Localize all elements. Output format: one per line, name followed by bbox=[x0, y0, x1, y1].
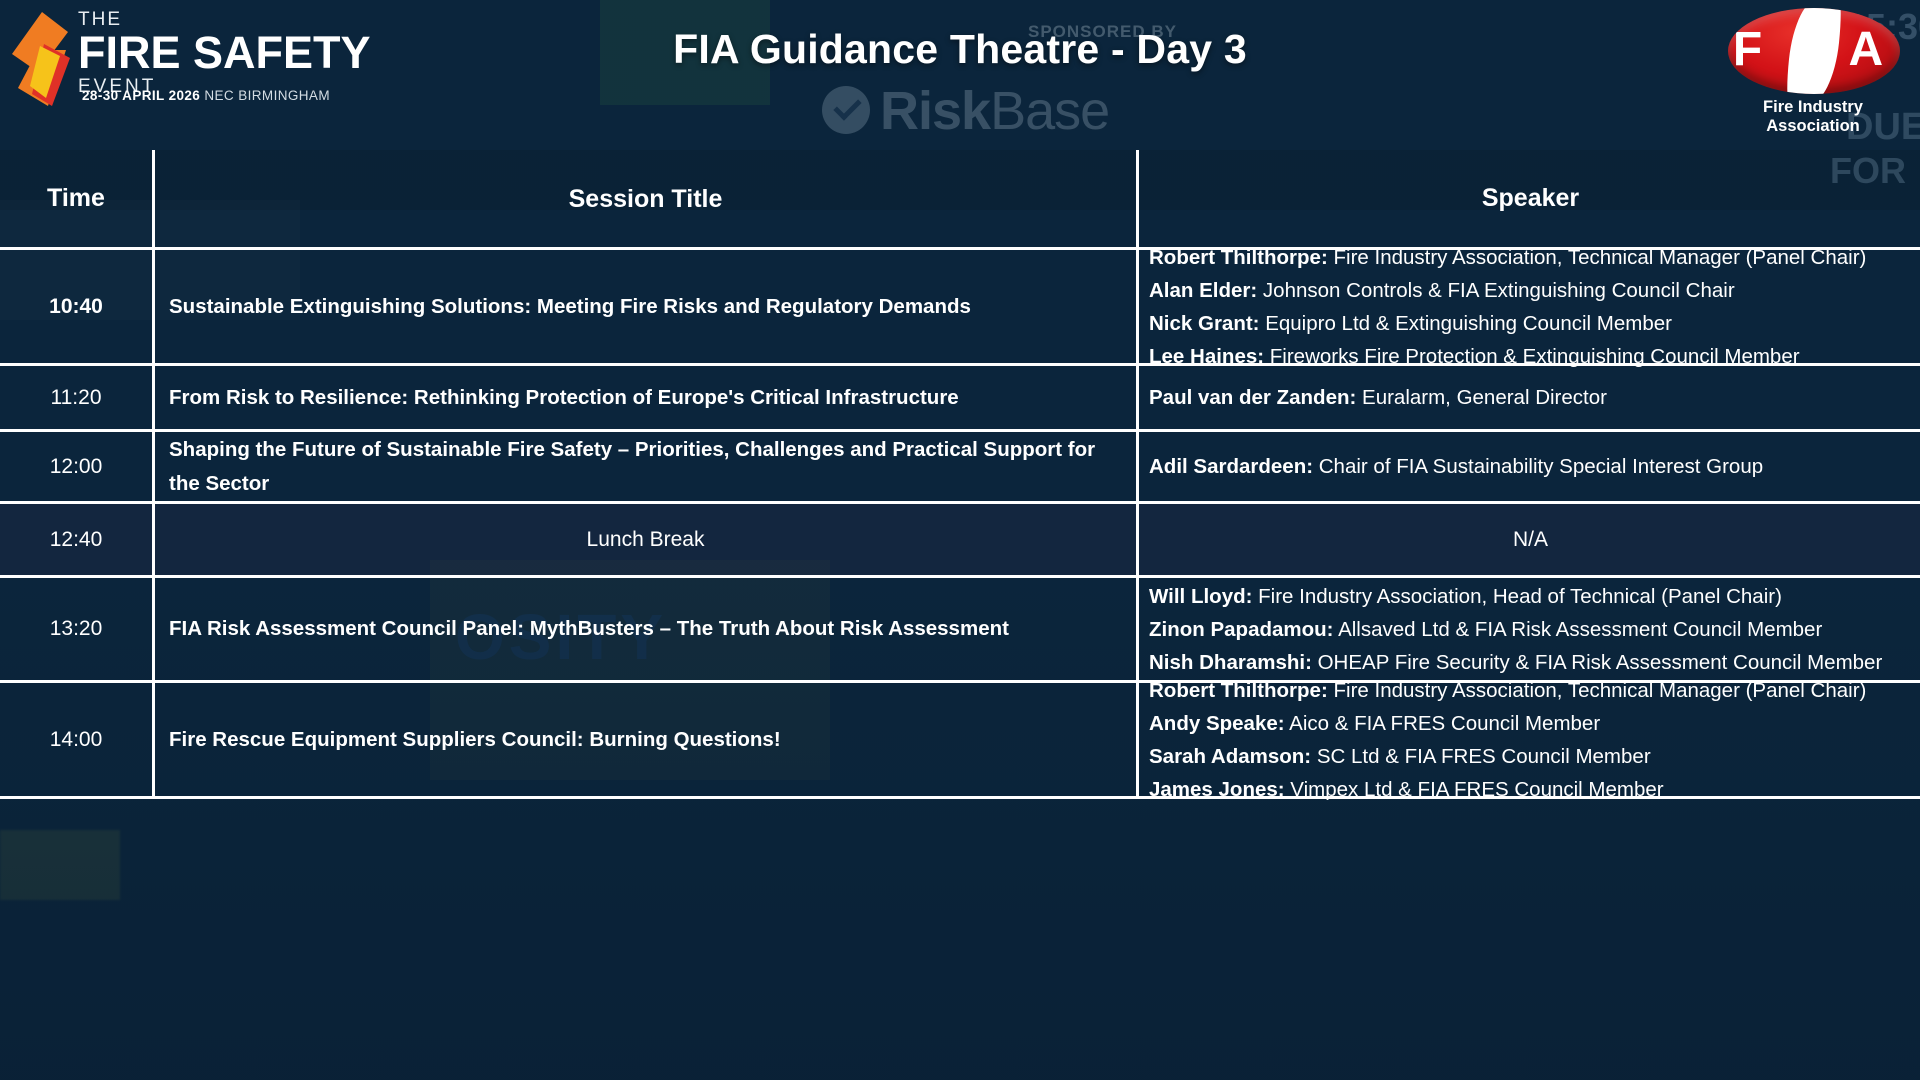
fia-logo: F I A Fire Industry Association bbox=[1718, 8, 1908, 128]
speaker-entry: Sarah Adamson: SC Ltd & FIA FRES Council… bbox=[1149, 740, 1912, 773]
cell-time: 10:40 bbox=[0, 250, 152, 363]
fia-logo-ellipse: F I A bbox=[1728, 8, 1900, 94]
speaker-detail: Euralarm, General Director bbox=[1356, 386, 1607, 409]
speaker-entry: Andy Speake: Aico & FIA FRES Council Mem… bbox=[1149, 707, 1912, 740]
table-row: 11:20 From Risk to Resilience: Rethinkin… bbox=[0, 366, 1920, 432]
speaker-detail: Fireworks Fire Protection & Extinguishin… bbox=[1264, 345, 1799, 368]
speaker-name: Robert Thilthorpe: bbox=[1149, 679, 1328, 702]
speaker-name: Zinon Papadamou: bbox=[1149, 618, 1334, 641]
ghost-riskbase-light: Base bbox=[990, 81, 1109, 141]
cell-speaker: Will Lloyd: Fire Industry Association, H… bbox=[1139, 578, 1920, 680]
speaker-name: James Jones: bbox=[1149, 778, 1285, 801]
speaker-name: Alan Elder: bbox=[1149, 279, 1257, 302]
cell-session-title: FIA Risk Assessment Council Panel: MythB… bbox=[152, 578, 1139, 680]
table-row: 10:40 Sustainable Extinguishing Solution… bbox=[0, 250, 1920, 366]
cell-speaker: Robert Thilthorpe: Fire Industry Associa… bbox=[1139, 250, 1920, 363]
speaker-name: Will Lloyd: bbox=[1149, 585, 1252, 608]
speaker-entry: Nick Grant: Equipro Ltd & Extinguishing … bbox=[1149, 307, 1912, 340]
ghost-check-icon bbox=[822, 86, 870, 134]
table-row: 13:20 FIA Risk Assessment Council Panel:… bbox=[0, 578, 1920, 683]
column-header-time: Time bbox=[0, 150, 152, 247]
table-header-row: Time Session Title Speaker bbox=[0, 150, 1920, 250]
speaker-name: Andy Speake: bbox=[1149, 712, 1285, 735]
speaker-entry: Zinon Papadamou: Allsaved Ltd & FIA Risk… bbox=[1149, 613, 1912, 646]
speaker-entry: Paul van der Zanden: Euralarm, General D… bbox=[1149, 381, 1912, 414]
speaker-detail: Fire Industry Association, Technical Man… bbox=[1328, 246, 1867, 269]
speaker-name: Paul van der Zanden: bbox=[1149, 386, 1356, 409]
fia-logo-swoosh-icon bbox=[1785, 8, 1844, 94]
cell-time: 12:40 bbox=[0, 504, 152, 575]
cell-speaker: Adil Sardardeen: Chair of FIA Sustainabi… bbox=[1139, 432, 1920, 501]
column-header-speaker: Speaker bbox=[1139, 150, 1920, 247]
page-title: FIA Guidance Theatre - Day 3 bbox=[0, 26, 1920, 73]
cell-speaker: Paul van der Zanden: Euralarm, General D… bbox=[1139, 366, 1920, 429]
slide-canvas: OSITY 15:30 DUE FOR THE FIRE SAFETY EVEN… bbox=[0, 0, 1920, 1080]
speaker-name: Robert Thilthorpe: bbox=[1149, 246, 1328, 269]
cell-session-title: Sustainable Extinguishing Solutions: Mee… bbox=[152, 250, 1139, 363]
speaker-name: Adil Sardardeen: bbox=[1149, 455, 1313, 478]
table-row: 12:00 Shaping the Future of Sustainable … bbox=[0, 432, 1920, 504]
speaker-entry: Will Lloyd: Fire Industry Association, H… bbox=[1149, 580, 1912, 613]
ghost-riskbase-bold: Risk bbox=[880, 81, 990, 141]
speaker-entry: Adil Sardardeen: Chair of FIA Sustainabi… bbox=[1149, 450, 1912, 483]
cell-session-title: From Risk to Resilience: Rethinking Prot… bbox=[152, 366, 1139, 429]
slide-header: THE FIRE SAFETY EVENT 28-30 APRIL 2026 N… bbox=[0, 0, 1920, 150]
speaker-entry: Robert Thilthorpe: Fire Industry Associa… bbox=[1149, 241, 1912, 274]
cell-session-title: Shaping the Future of Sustainable Fire S… bbox=[152, 432, 1139, 501]
speaker-entry: James Jones: Vimpex Ltd & FIA FRES Counc… bbox=[1149, 773, 1912, 806]
speaker-detail: Allsaved Ltd & FIA Risk Assessment Counc… bbox=[1334, 618, 1823, 641]
speaker-name: Nick Grant: bbox=[1149, 312, 1260, 335]
speaker-entry: Robert Thilthorpe: Fire Industry Associa… bbox=[1149, 674, 1912, 707]
schedule-table: Time Session Title Speaker 10:40 Sustain… bbox=[0, 150, 1920, 799]
speaker-name: Nish Dharamshi: bbox=[1149, 651, 1312, 674]
speaker-detail: Vimpex Ltd & FIA FRES Council Member bbox=[1285, 778, 1664, 801]
cell-time: 12:00 bbox=[0, 432, 152, 501]
ghost-riskbase-wordmark: RiskBase bbox=[880, 80, 1109, 142]
speaker-detail: Fire Industry Association, Head of Techn… bbox=[1252, 585, 1781, 608]
event-dates-text: 28-30 APRIL 2026 bbox=[82, 88, 200, 103]
fia-logo-caption: Fire Industry Association bbox=[1718, 98, 1908, 136]
speaker-name: Lee Haines: bbox=[1149, 345, 1264, 368]
cell-time: 14:00 bbox=[0, 683, 152, 796]
event-dates: 28-30 APRIL 2026 NEC BIRMINGHAM bbox=[82, 88, 330, 103]
cell-time: 13:20 bbox=[0, 578, 152, 680]
table-row: 12:40 Lunch Break N/A bbox=[0, 504, 1920, 578]
cell-session-title: Lunch Break bbox=[152, 504, 1139, 575]
speaker-name: Sarah Adamson: bbox=[1149, 745, 1311, 768]
cell-time: 11:20 bbox=[0, 366, 152, 429]
column-header-session-title: Session Title bbox=[152, 150, 1139, 247]
cell-session-title: Fire Rescue Equipment Suppliers Council:… bbox=[152, 683, 1139, 796]
speaker-detail: Aico & FIA FRES Council Member bbox=[1285, 712, 1601, 735]
speaker-detail: Johnson Controls & FIA Extinguishing Cou… bbox=[1257, 279, 1734, 302]
speaker-detail: OHEAP Fire Security & FIA Risk Assessmen… bbox=[1312, 651, 1882, 674]
speaker-detail: Equipro Ltd & Extinguishing Council Memb… bbox=[1260, 312, 1673, 335]
speaker-detail: Chair of FIA Sustainability Special Inte… bbox=[1313, 455, 1763, 478]
cell-speaker: Robert Thilthorpe: Fire Industry Associa… bbox=[1139, 683, 1920, 796]
event-venue-text: NEC BIRMINGHAM bbox=[204, 88, 330, 103]
cell-speaker: N/A bbox=[1139, 504, 1920, 575]
speaker-entry: Alan Elder: Johnson Controls & FIA Extin… bbox=[1149, 274, 1912, 307]
speaker-detail: Fire Industry Association, Technical Man… bbox=[1328, 679, 1867, 702]
speaker-detail: SC Ltd & FIA FRES Council Member bbox=[1311, 745, 1651, 768]
table-row: 14:00 Fire Rescue Equipment Suppliers Co… bbox=[0, 683, 1920, 799]
